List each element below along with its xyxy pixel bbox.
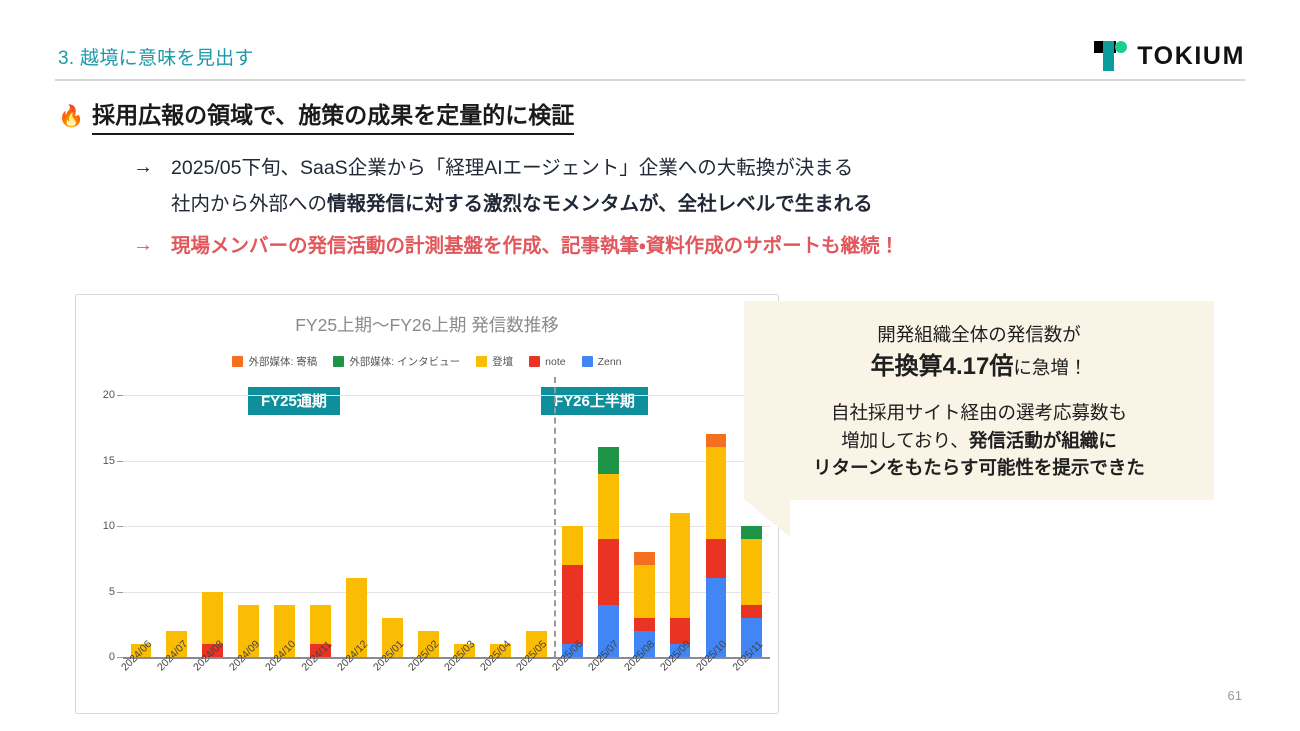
legend-item[interactable]: 登壇 <box>476 354 513 369</box>
chart-bar[interactable] <box>706 434 727 657</box>
chart-bar-slot[interactable] <box>411 395 447 657</box>
chart-bar-segment <box>706 539 727 578</box>
slide-root: 3. 越境に意味を見出す TOKIUM 🔥 採用広報の領域で、施策の成果を定量的… <box>0 0 1300 731</box>
legend-label: 外部媒体: インタビュー <box>349 354 460 369</box>
legend-swatch-icon <box>582 356 593 367</box>
bullet-1-text: 2025/05下旬、SaaS企業から「経理AIエージェント」企業への大転換が決ま… <box>171 154 853 182</box>
bullet-2: → 現場メンバーの発信活動の計測基盤を作成、記事執筆・資料作成のサポートも継続！ <box>133 232 899 260</box>
callout-tail <box>744 499 790 537</box>
chart-y-tick: 5 <box>109 586 115 598</box>
callout-line-2-tail: に急増！ <box>1013 357 1087 378</box>
chart-x-label-slot: 2024/10 <box>267 661 303 713</box>
bullet-2-text: 現場メンバーの発信活動の計測基盤を作成、記事執筆・資料作成のサポートも継続！ <box>171 232 899 260</box>
page-title: 🔥 採用広報の領域で、施策の成果を定量的に検証 <box>58 96 574 135</box>
chart-bar-slot[interactable] <box>303 395 339 657</box>
bullet-1: → 2025/05下旬、SaaS企業から「経理AIエージェント」企業への大転換が… <box>133 154 853 182</box>
bullet-1-sub-plain: 社内から外部への <box>171 193 327 215</box>
page-title-text: 採用広報の領域で、施策の成果を定量的に検証 <box>92 96 574 135</box>
chart-y-tick: 20 <box>103 389 115 401</box>
chart-period-divider <box>554 377 556 657</box>
legend-item[interactable]: Zenn <box>582 356 622 368</box>
chart-bar-segment <box>741 605 762 618</box>
chart-bar-segment <box>741 539 762 605</box>
chart-bar[interactable] <box>562 526 583 657</box>
legend-item[interactable]: note <box>529 356 565 368</box>
callout-line-5: リターンをもたらす可能性を提示できた <box>758 454 1200 482</box>
legend-swatch-icon <box>333 356 344 367</box>
header-divider <box>55 79 1245 81</box>
chart-bar-segment <box>706 434 727 447</box>
callout-line-4-bold: 発信活動が組織に <box>969 430 1117 451</box>
chart-bar-segment <box>598 474 619 540</box>
chart-x-label-slot: 2025/02 <box>411 661 447 713</box>
callout-line-2: 年換算4.17倍に急増！ <box>758 349 1200 385</box>
tokium-logo-text: TOKIUM <box>1137 42 1245 71</box>
arrow-icon-red: → <box>133 232 171 258</box>
legend-item[interactable]: 外部媒体: インタビュー <box>333 354 460 369</box>
chart-title: FY25上期〜FY26上期 発信数推移 <box>76 312 778 337</box>
chart-bar-segment <box>310 605 331 644</box>
legend-label: note <box>545 356 565 368</box>
chart-bar-slot[interactable] <box>159 395 195 657</box>
chart-x-label-slot: 2024/08 <box>195 661 231 713</box>
chart-x-label-slot: 2025/03 <box>446 661 482 713</box>
legend-label: 外部媒体: 寄稿 <box>248 354 317 369</box>
chart-bar-segment <box>598 447 619 473</box>
chart-bar-slot[interactable] <box>195 395 231 657</box>
bullet-1-sub: 社内から外部への情報発信に対する激烈なモメンタムが、全社レベルで生まれる <box>171 190 873 218</box>
chart-x-label-slot: 2025/06 <box>554 661 590 713</box>
chart-bars <box>123 395 770 657</box>
callout-highlight: 年換算4.17倍 <box>871 353 1014 380</box>
callout-line-3: 自社採用サイト経由の選考応募数も <box>758 399 1200 427</box>
chart-bar-segment <box>598 539 619 605</box>
chart-x-label-slot: 2025/10 <box>698 661 734 713</box>
chart-bar-segment <box>634 565 655 617</box>
chart-bar-slot[interactable] <box>626 395 662 657</box>
chart-x-axis-labels: 2024/062024/072024/082024/092024/102024/… <box>123 661 770 713</box>
chart-x-label-slot: 2025/11 <box>734 661 770 713</box>
chart-x-label-slot: 2024/09 <box>231 661 267 713</box>
chart-card: FY25上期〜FY26上期 発信数推移 外部媒体: 寄稿外部媒体: インタビュー… <box>75 294 779 714</box>
chart-bar-slot[interactable] <box>554 395 590 657</box>
legend-swatch-icon <box>476 356 487 367</box>
chart-bar-segment <box>670 513 691 618</box>
chart-x-label-slot: 2025/08 <box>626 661 662 713</box>
chart-bar-slot[interactable] <box>698 395 734 657</box>
callout-box: 開発組織全体の発信数が 年換算4.17倍に急増！ 自社採用サイト経由の選考応募数… <box>744 301 1214 500</box>
page-number: 61 <box>1228 688 1242 703</box>
chart-x-label-slot: 2025/01 <box>375 661 411 713</box>
chart-bar-segment <box>562 526 583 565</box>
callout-line-5-bold: リターンをもたらす可能性を提示できた <box>813 457 1145 478</box>
chart-bar-slot[interactable] <box>231 395 267 657</box>
fire-icon: 🔥 <box>58 105 84 129</box>
tokium-logo-mark-icon <box>1094 41 1128 71</box>
chart-y-tick: 15 <box>103 455 115 467</box>
bullet-1-sub-bold: 情報発信に対する激烈なモメンタムが、全社レベルで生まれる <box>327 193 873 215</box>
chart-bar-segment <box>562 565 583 644</box>
callout-line-4-plain: 増加しており、 <box>841 430 969 451</box>
bullet-1-sub-text: 社内から外部への情報発信に対する激烈なモメンタムが、全社レベルで生まれる <box>171 190 873 218</box>
legend-swatch-icon <box>529 356 540 367</box>
chart-bar-slot[interactable] <box>446 395 482 657</box>
chart-x-label-slot: 2024/11 <box>303 661 339 713</box>
chart-x-label-slot: 2025/09 <box>662 661 698 713</box>
chart-x-label-slot: 2024/12 <box>339 661 375 713</box>
legend-item[interactable]: 外部媒体: 寄稿 <box>232 354 317 369</box>
chart-bar-slot[interactable] <box>339 395 375 657</box>
chart-bar-segment <box>634 618 655 631</box>
callout-line-4: 増加しており、発信活動が組織に <box>758 427 1200 455</box>
chart-bar-slot[interactable] <box>590 395 626 657</box>
chart-x-label-slot: 2025/07 <box>590 661 626 713</box>
chart-bar-segment <box>706 447 727 539</box>
chart-bar-slot[interactable] <box>375 395 411 657</box>
chart-bar-slot[interactable] <box>482 395 518 657</box>
chart-bar[interactable] <box>670 513 691 657</box>
chart-bar-segment <box>634 552 655 565</box>
chart-x-label-slot: 2025/04 <box>482 661 518 713</box>
chart-bar-slot[interactable] <box>123 395 159 657</box>
chart-bar[interactable] <box>598 447 619 657</box>
chart-x-label-slot: 2024/07 <box>159 661 195 713</box>
chart-bar-segment <box>202 592 223 644</box>
chart-x-label-slot: 2025/05 <box>518 661 554 713</box>
chart-bar-slot[interactable] <box>518 395 554 657</box>
chart-y-tick: 0 <box>109 651 115 663</box>
chart-x-label-slot: 2024/06 <box>123 661 159 713</box>
chart-bar-slot[interactable] <box>267 395 303 657</box>
chart-bar[interactable] <box>741 526 762 657</box>
chart-legend: 外部媒体: 寄稿外部媒体: インタビュー登壇noteZenn <box>76 354 778 369</box>
chart-y-tick: 10 <box>103 520 115 532</box>
section-label: 3. 越境に意味を見出す <box>58 43 254 70</box>
tokium-logo: TOKIUM <box>1094 41 1245 71</box>
chart-bar-slot[interactable] <box>662 395 698 657</box>
legend-label: Zenn <box>598 356 622 368</box>
legend-swatch-icon <box>232 356 243 367</box>
callout-line-1: 開発組織全体の発信数が <box>758 321 1200 349</box>
chart-plot-area: FY25通期 FY26上半期 05101520 <box>123 395 770 657</box>
legend-label: 登壇 <box>492 354 513 369</box>
arrow-icon: → <box>133 154 171 180</box>
